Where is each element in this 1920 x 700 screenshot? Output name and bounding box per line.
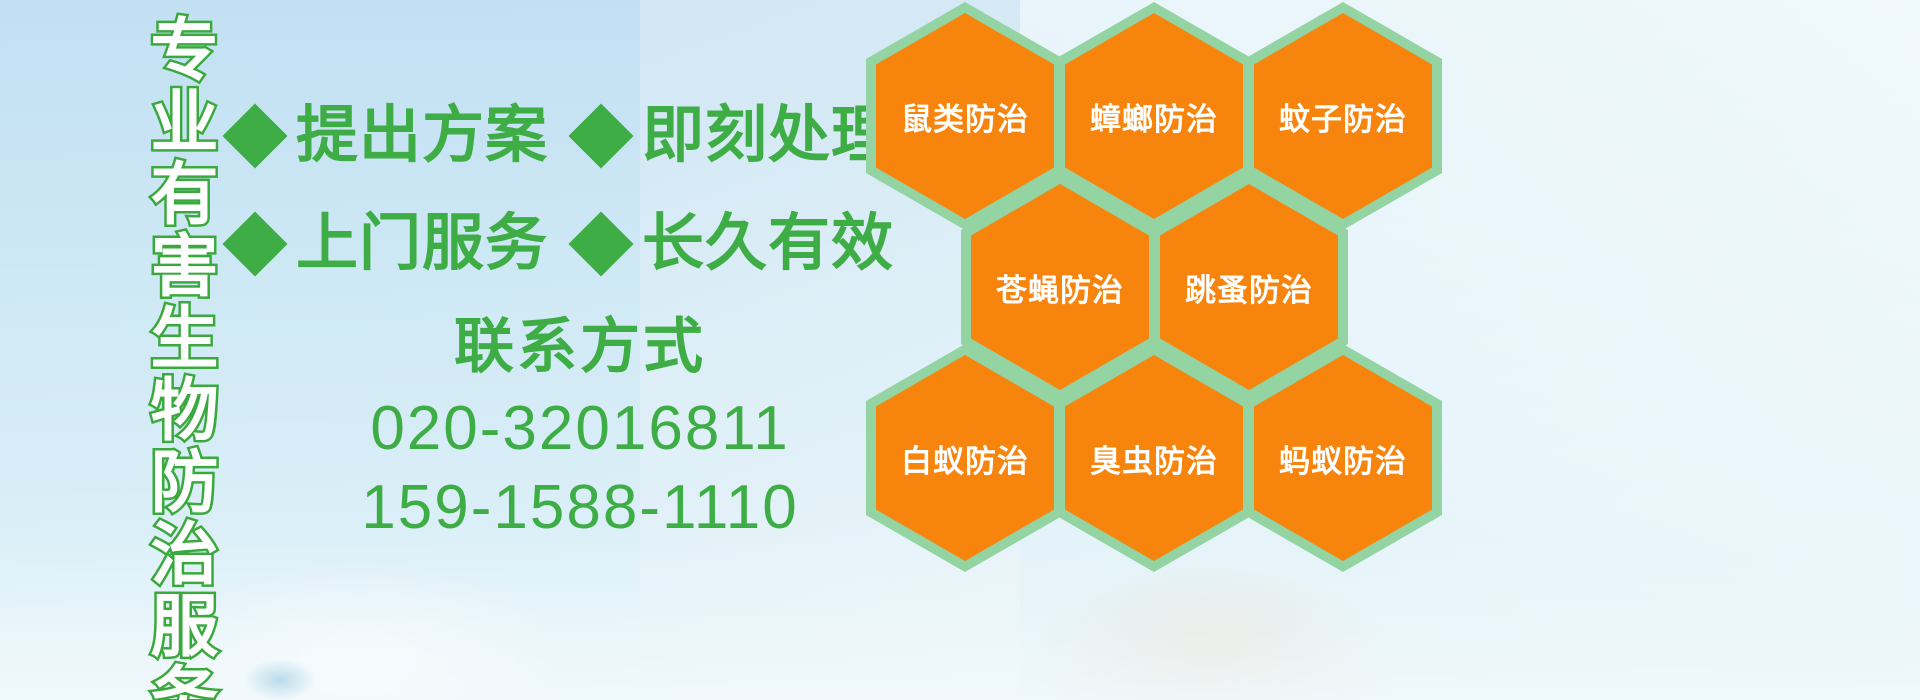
service-label: 白蚁防治 bbox=[866, 344, 1064, 572]
contact-phone-mobile[interactable]: 159-1588-1110 bbox=[300, 468, 860, 547]
feature-label: 上门服务 bbox=[296, 213, 548, 275]
diamond-bullet-icon bbox=[222, 211, 287, 276]
diamond-bullet-icon bbox=[568, 211, 633, 276]
feature-item: 长久有效 bbox=[578, 213, 894, 275]
service-hexagon-grid: 鼠类防治 蟑螂防治 蚊子防治 苍蝇防治 跳蚤防治 白蚁防治 bbox=[862, 0, 1462, 700]
service-label: 臭虫防治 bbox=[1055, 344, 1253, 572]
service-hexagon-ant[interactable]: 蚂蚁防治 bbox=[1244, 344, 1442, 572]
feature-label: 提出方案 bbox=[296, 105, 548, 167]
service-hexagon-termite[interactable]: 白蚁防治 bbox=[866, 344, 1064, 572]
feature-label: 长久有效 bbox=[642, 213, 894, 275]
pest-control-banner: 专业有害生物防治服务 提出方案 即刻处理 上门服务 长久有效 bbox=[0, 0, 1920, 700]
contact-heading: 联系方式 bbox=[300, 312, 860, 383]
feature-item: 即刻处理 bbox=[578, 105, 894, 167]
service-label: 蚂蚁防治 bbox=[1244, 344, 1442, 572]
contact-block: 联系方式 020-32016811 159-1588-1110 bbox=[300, 312, 860, 548]
feature-list: 提出方案 即刻处理 上门服务 长久有效 bbox=[232, 82, 872, 298]
vertical-headline: 专业有害生物防治服务 bbox=[108, 14, 212, 686]
feature-row: 上门服务 长久有效 bbox=[232, 190, 872, 298]
background-speck bbox=[245, 660, 315, 700]
feature-item: 上门服务 bbox=[232, 213, 548, 275]
feature-row: 提出方案 即刻处理 bbox=[232, 82, 872, 190]
feature-item: 提出方案 bbox=[232, 105, 548, 167]
contact-phone-landline[interactable]: 020-32016811 bbox=[300, 389, 860, 468]
feature-label: 即刻处理 bbox=[642, 105, 894, 167]
service-hexagon-bedbug[interactable]: 臭虫防治 bbox=[1055, 344, 1253, 572]
diamond-bullet-icon bbox=[222, 103, 287, 168]
diamond-bullet-icon bbox=[568, 103, 633, 168]
